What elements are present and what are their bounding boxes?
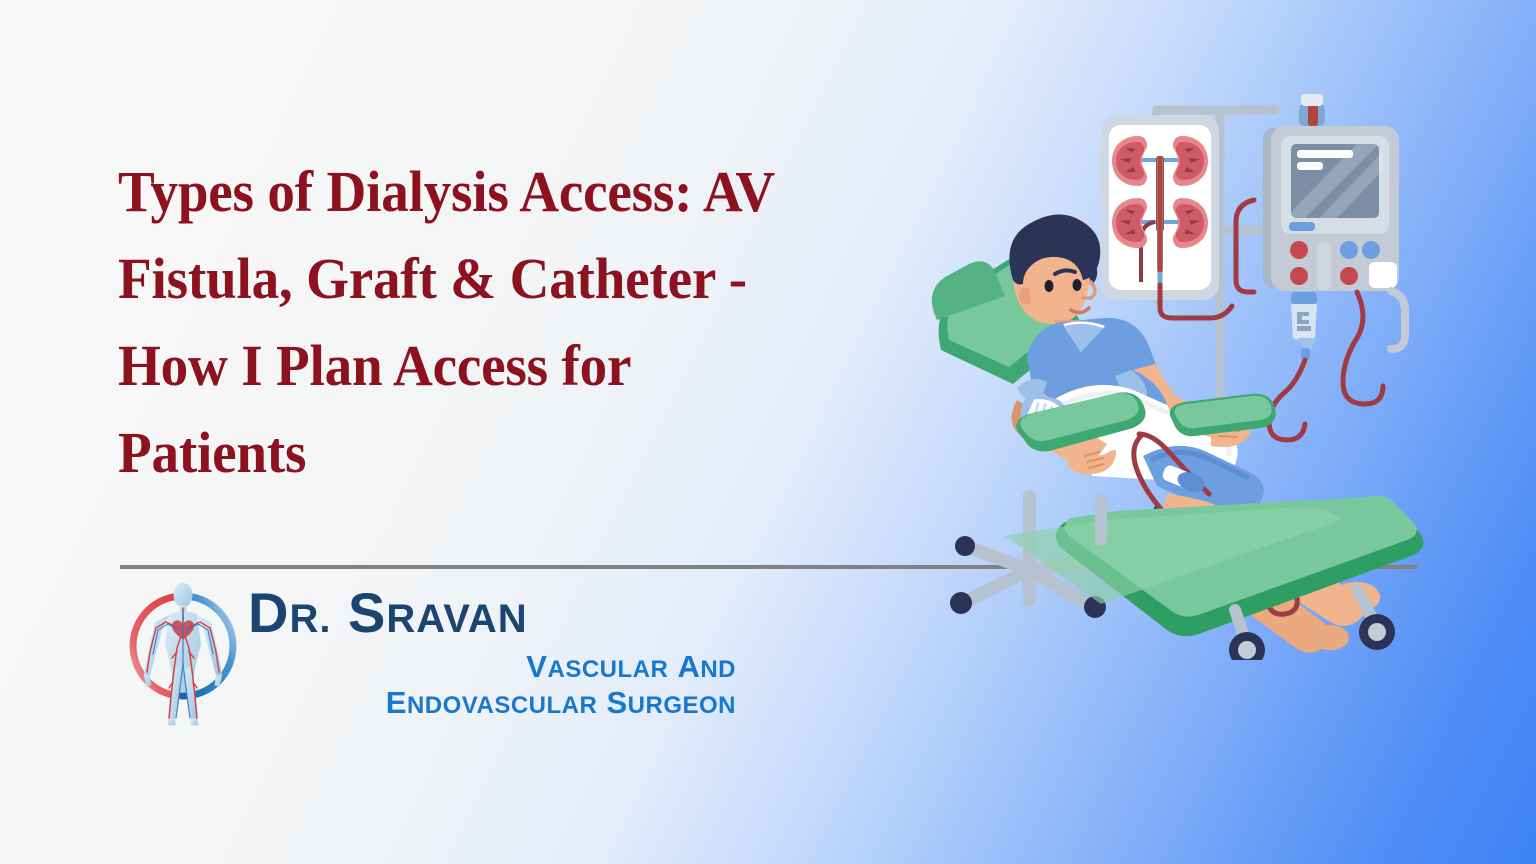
headline-block: Types of Dialysis Access: AV Fistula, Gr…	[118, 148, 878, 496]
brand-d: D	[248, 581, 289, 644]
brand-wordmark: DR. SRAVAN VASCULAR AND ENDOVASCULAR SUR…	[248, 584, 768, 722]
banner-canvas: Types of Dialysis Access: AV Fistula, Gr…	[0, 0, 1536, 864]
brand-ravan: RAVAN	[386, 597, 527, 641]
circulatory-system-icon	[122, 578, 244, 730]
tagline-a: A	[677, 649, 700, 684]
brand-dot: .	[319, 597, 331, 641]
tagline-nd: ND	[700, 656, 736, 683]
tagline-s: S	[606, 685, 627, 720]
tagline-e: E	[386, 685, 407, 720]
brand-s: S	[348, 581, 386, 644]
dialysis-machine	[1263, 94, 1405, 360]
brand-tagline-line-1: VASCULAR AND	[248, 650, 736, 686]
brand-name: DR. SRAVAN	[248, 584, 768, 648]
brand-tagline-line-2: ENDOVASCULAR SURGEON	[248, 686, 736, 722]
tagline-v: V	[526, 649, 547, 684]
kidney-diagram-panel	[1101, 115, 1219, 300]
brand-r: R	[289, 597, 319, 641]
dialysis-chair-seat	[1005, 392, 1424, 660]
hemodialysis-illustration	[905, 70, 1465, 660]
tagline-ascular: ASCULAR	[547, 656, 668, 683]
tagline-ndovascular: NDOVASCULAR	[407, 692, 597, 719]
tagline-urgeon: URGEON	[628, 692, 736, 719]
brand-logo[interactable]: DR. SRAVAN VASCULAR AND ENDOVASCULAR SUR…	[122, 578, 762, 730]
page-title: Types of Dialysis Access: AV Fistula, Gr…	[118, 148, 840, 496]
